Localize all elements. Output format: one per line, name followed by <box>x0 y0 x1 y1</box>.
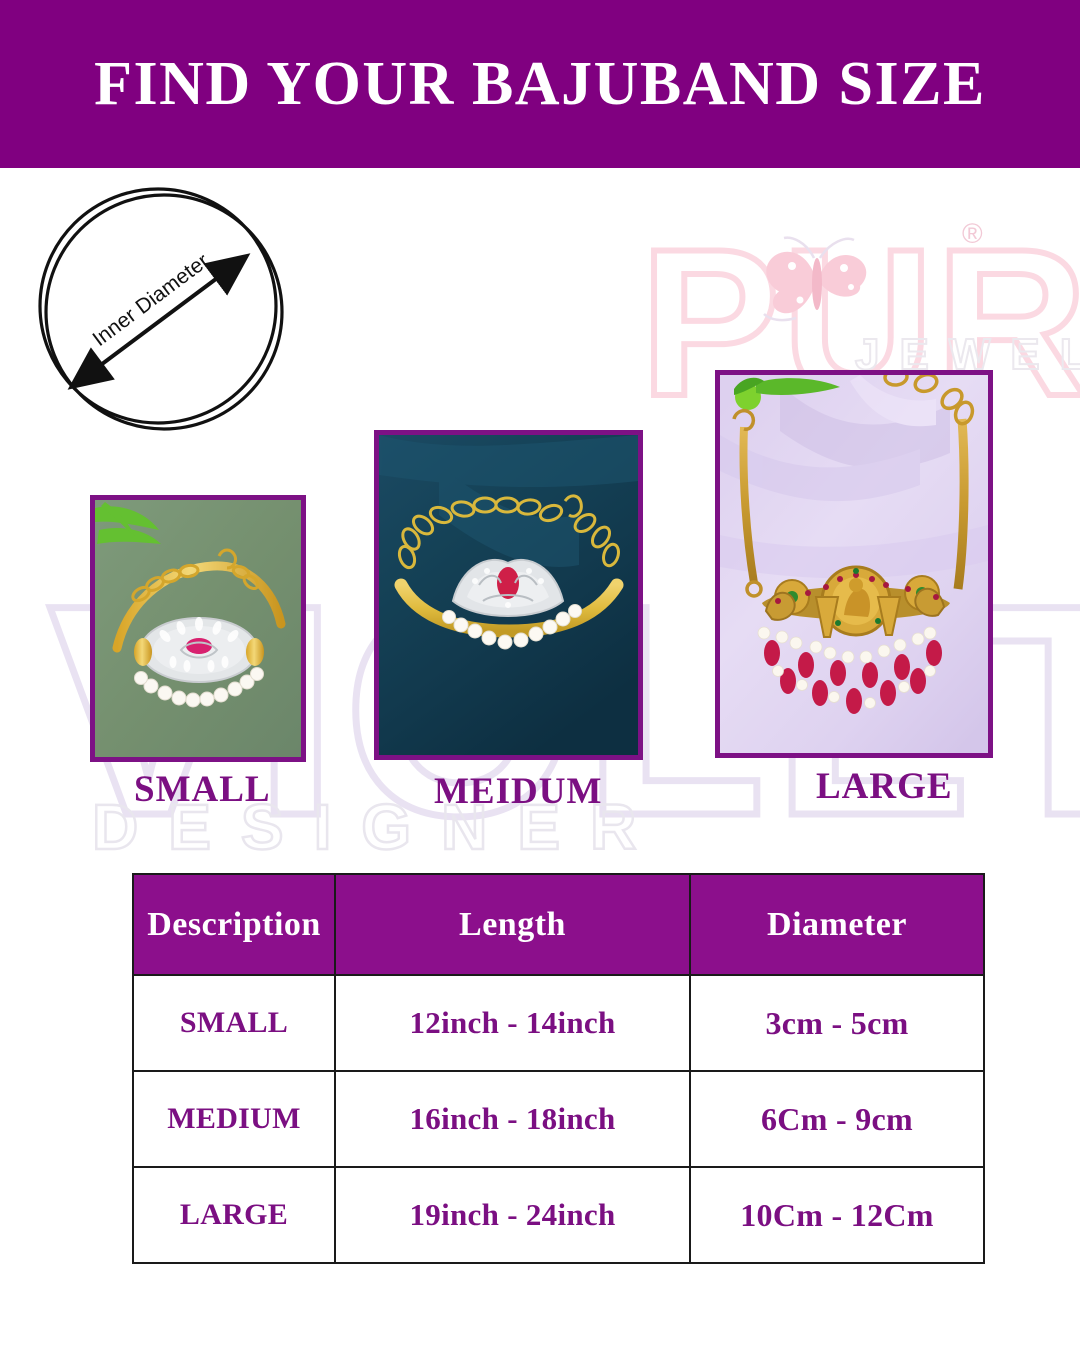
cell-diameter-medium: 6Cm - 9cm <box>690 1071 984 1167</box>
column-header-diameter: Diameter <box>690 874 984 975</box>
cell-diameter-small: 3cm - 5cm <box>690 975 984 1071</box>
medium-bajuband-photo <box>379 435 638 755</box>
size-chart-table: Description Length Diameter SMALL 12inch… <box>132 873 985 1264</box>
cell-description-large: LARGE <box>133 1167 335 1263</box>
product-image-medium <box>374 430 643 760</box>
cell-length-large: 19inch - 24inch <box>335 1167 690 1263</box>
cell-length-medium: 16inch - 18inch <box>335 1071 690 1167</box>
butterfly-logo-icon <box>756 232 886 328</box>
inner-diameter-label: Inner Diameter <box>88 249 213 351</box>
page-header-banner: FIND YOUR BAJUBAND SIZE <box>0 0 1080 168</box>
registered-trademark-icon: ® <box>962 218 983 250</box>
inner-diameter-diagram: Inner Diameter <box>28 186 296 434</box>
product-image-large <box>715 370 993 758</box>
page-title: FIND YOUR BAJUBAND SIZE <box>94 49 986 120</box>
cell-diameter-large: 10Cm - 12Cm <box>690 1167 984 1263</box>
table-row: SMALL 12inch - 14inch 3cm - 5cm <box>133 975 984 1071</box>
table-header-row: Description Length Diameter <box>133 874 984 975</box>
size-label-small: SMALL <box>134 768 271 811</box>
table-row: MEDIUM 16inch - 18inch 6Cm - 9cm <box>133 1071 984 1167</box>
column-header-length: Length <box>335 874 690 975</box>
size-label-medium: MEIDUM <box>434 770 602 813</box>
column-header-description: Description <box>133 874 335 975</box>
size-label-large: LARGE <box>816 765 953 808</box>
large-bajuband-photo <box>720 375 988 753</box>
cell-description-small: SMALL <box>133 975 335 1071</box>
table-row: LARGE 19inch - 24inch 10Cm - 12Cm <box>133 1167 984 1263</box>
cell-length-small: 12inch - 14inch <box>335 975 690 1071</box>
product-image-small <box>90 495 306 762</box>
cell-description-medium: MEDIUM <box>133 1071 335 1167</box>
small-bajuband-photo <box>95 500 301 757</box>
